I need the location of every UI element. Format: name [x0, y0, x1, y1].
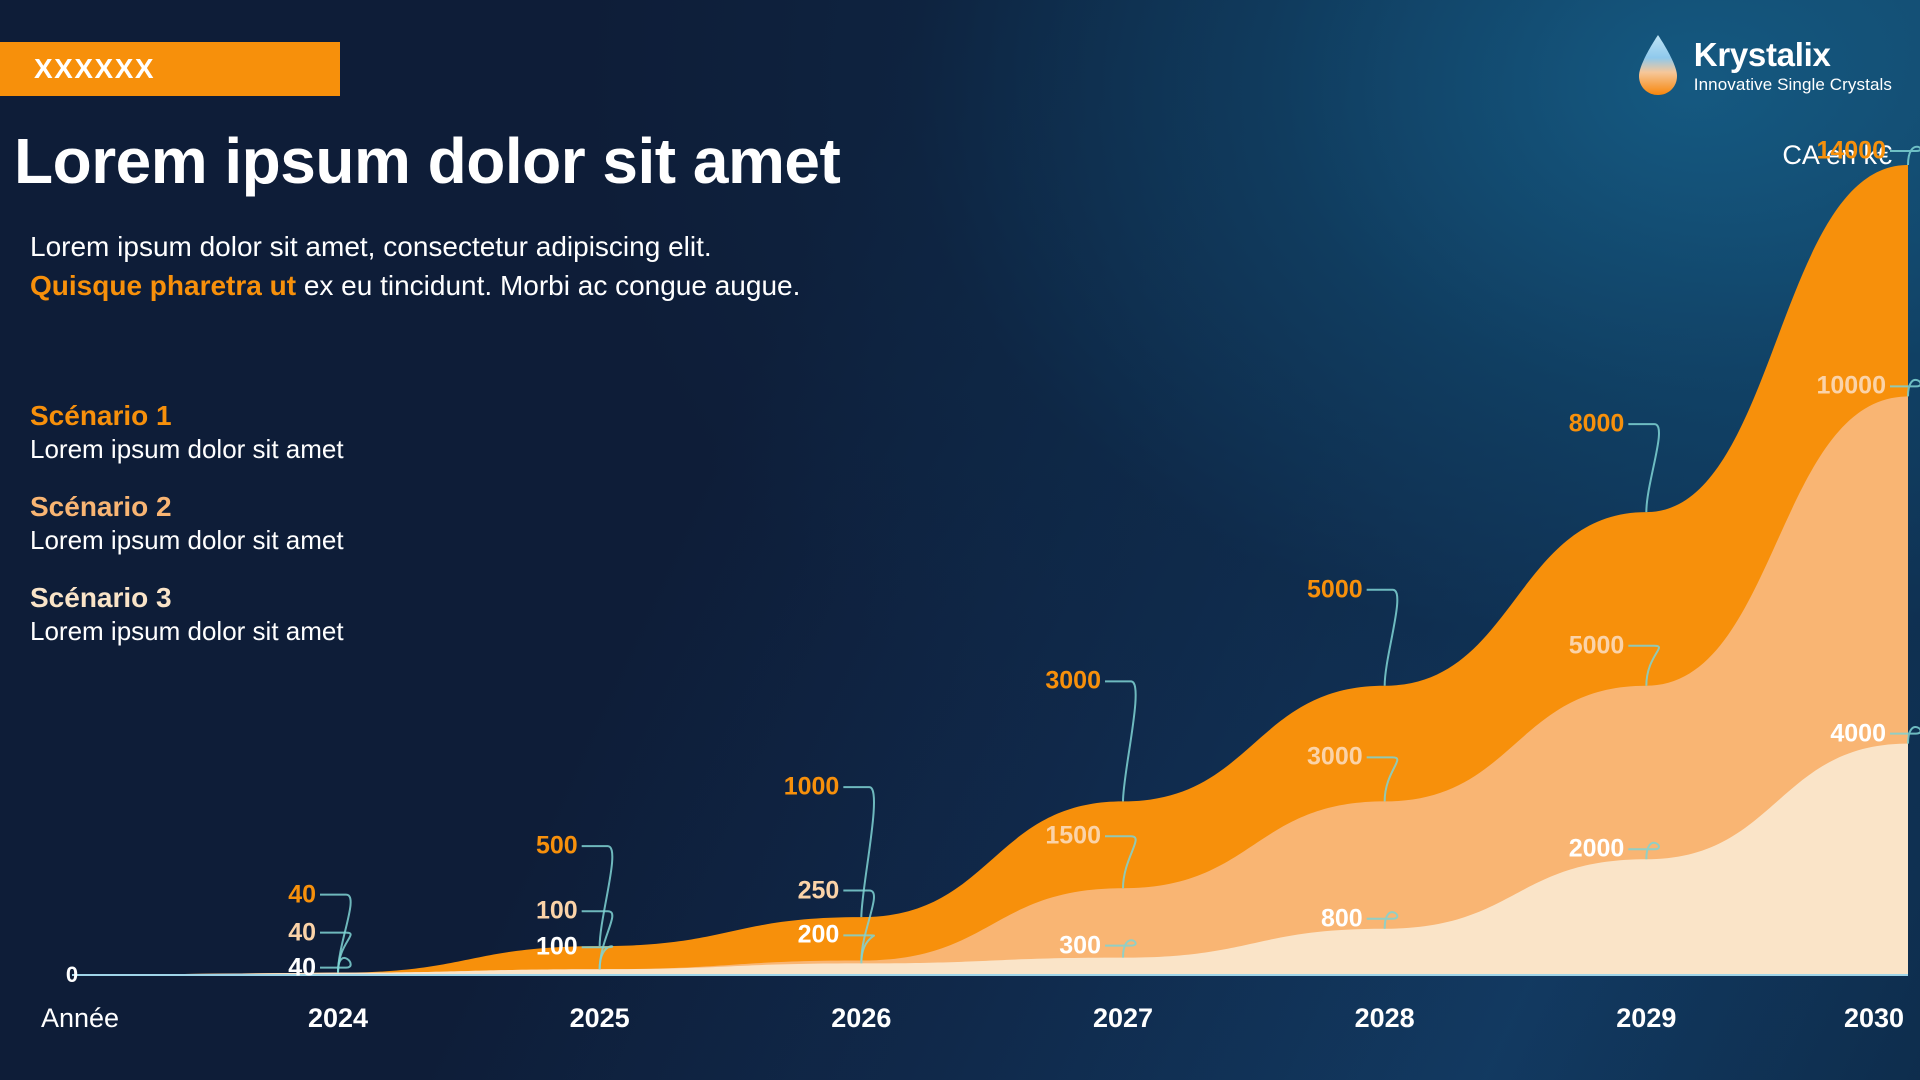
- intro-line-2: Quisque pharetra ut ex eu tincidunt. Mor…: [30, 267, 1030, 306]
- leader-line-2024-series3: [320, 958, 351, 973]
- leader-line-2024-series2: [320, 933, 351, 973]
- leader-line-2028-series2: [1367, 757, 1398, 801]
- legend-item-scenario-2-desc: Lorem ipsum dolor sit amet: [30, 524, 344, 558]
- data-label-2027-series1: 3000: [1045, 667, 1101, 696]
- leader-line-2029-series2: [1628, 646, 1659, 686]
- leader-line-2026-series1: [843, 787, 874, 917]
- intro-line-2-rest: ex eu tincidunt. Morbi ac congue augue.: [296, 270, 800, 301]
- brand-logo-text: Krystalix Innovative Single Crystals: [1694, 38, 1892, 93]
- data-label-2024-series3: 40: [288, 953, 316, 982]
- leader-line-2030-series2: [1890, 380, 1920, 397]
- data-label-2028-series2: 3000: [1307, 743, 1363, 772]
- x-tick-2024: 2024: [308, 1003, 368, 1034]
- leader-line-2025-series3: [582, 946, 613, 969]
- brand-logo: Krystalix Innovative Single Crystals: [1635, 34, 1892, 96]
- data-label-2028-series1: 5000: [1307, 575, 1363, 604]
- data-label-2030-series2: 10000: [1816, 372, 1886, 401]
- x-tick-2029: 2029: [1616, 1003, 1676, 1034]
- leader-line-2030-series1: [1890, 147, 1920, 165]
- leader-line-2026-series2: [843, 891, 874, 961]
- data-label-2029-series1: 8000: [1569, 410, 1625, 439]
- data-label-2024-series2: 40: [288, 918, 316, 947]
- data-label-2026-series3: 200: [798, 921, 840, 950]
- x-tick-2027: 2027: [1093, 1003, 1153, 1034]
- leader-line-2029-series3: [1628, 843, 1659, 860]
- data-label-2026-series1: 1000: [784, 773, 840, 802]
- legend-item-scenario-3: Scénario 3 Lorem ipsum dolor sit amet: [30, 580, 344, 649]
- intro-line-1: Lorem ipsum dolor sit amet, consectetur …: [30, 228, 1030, 267]
- legend-item-scenario-2-title: Scénario 2: [30, 489, 344, 524]
- crystal-droplet-icon: [1635, 34, 1681, 96]
- data-label-2026-series2: 250: [798, 876, 840, 905]
- area-series-3: [72, 744, 1908, 975]
- page-title: Lorem ipsum dolor sit amet: [14, 128, 840, 195]
- intro-paragraph: Lorem ipsum dolor sit amet, consectetur …: [30, 228, 1030, 305]
- legend-item-scenario-3-desc: Lorem ipsum dolor sit amet: [30, 615, 344, 649]
- leader-line-2027-series3: [1105, 940, 1136, 957]
- legend-item-scenario-1-title: Scénario 1: [30, 398, 344, 433]
- data-label-2024-series1: 40: [288, 880, 316, 909]
- leader-line-2026-series3: [843, 935, 874, 963]
- x-axis-title: Année: [41, 1003, 119, 1034]
- leader-line-2025-series2: [582, 911, 613, 969]
- legend-item-scenario-2: Scénario 2 Lorem ipsum dolor sit amet: [30, 489, 344, 558]
- leader-line-2028-series3: [1367, 912, 1398, 929]
- data-label-2029-series2: 5000: [1569, 631, 1625, 660]
- slide-canvas: XXXXXX Lorem ipsum dolor sit amet Lorem …: [0, 0, 1920, 1080]
- legend-item-scenario-3-title: Scénario 3: [30, 580, 344, 615]
- data-label-2025-series2: 100: [536, 897, 578, 926]
- data-label-2027-series3: 300: [1059, 931, 1101, 960]
- data-label-2025-series1: 500: [536, 832, 578, 861]
- leader-line-2029-series1: [1628, 424, 1659, 512]
- data-label-2030-series3: 4000: [1830, 719, 1886, 748]
- section-tag-label: XXXXXX: [34, 53, 155, 85]
- legend-item-scenario-1-desc: Lorem ipsum dolor sit amet: [30, 433, 344, 467]
- leader-line-2024-series1: [320, 895, 351, 973]
- data-label-2029-series3: 2000: [1569, 835, 1625, 864]
- data-label-2028-series3: 800: [1321, 904, 1363, 933]
- axis-origin-label: 0: [66, 962, 78, 988]
- x-tick-2025: 2025: [570, 1003, 630, 1034]
- brand-name: Krystalix: [1694, 38, 1892, 71]
- brand-tagline: Innovative Single Crystals: [1694, 76, 1892, 93]
- leader-line-2028-series1: [1367, 590, 1398, 686]
- leader-line-2027-series1: [1105, 681, 1136, 801]
- leader-line-2030-series3: [1890, 727, 1920, 744]
- legend-item-scenario-1: Scénario 1 Lorem ipsum dolor sit amet: [30, 398, 344, 467]
- data-label-2025-series3: 100: [536, 933, 578, 962]
- leader-line-2025-series1: [582, 846, 613, 946]
- x-tick-2028: 2028: [1355, 1003, 1415, 1034]
- x-tick-2030: 2030: [1844, 1003, 1904, 1034]
- section-tag: XXXXXX: [0, 42, 340, 96]
- intro-highlight: Quisque pharetra ut: [30, 270, 296, 301]
- scenario-legend: Scénario 1 Lorem ipsum dolor sit amet Sc…: [30, 398, 344, 648]
- area-series-2: [72, 396, 1908, 975]
- x-tick-2026: 2026: [831, 1003, 891, 1034]
- data-label-2027-series2: 1500: [1045, 822, 1101, 851]
- leader-line-2027-series2: [1105, 836, 1136, 888]
- data-label-2030-series1: 14000: [1816, 137, 1886, 166]
